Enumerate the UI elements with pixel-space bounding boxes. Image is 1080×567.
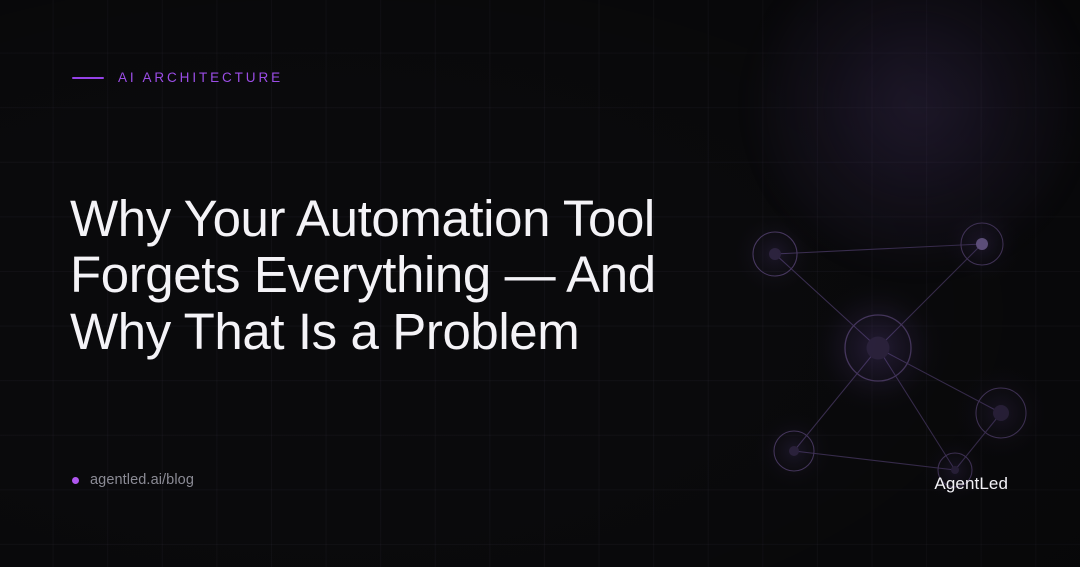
- network-edge: [878, 244, 982, 348]
- network-edge: [794, 348, 878, 451]
- node-dot: [867, 337, 890, 360]
- node-halo: [919, 434, 990, 505]
- node-ring: [753, 232, 797, 276]
- eyebrow-kicker: AI ARCHITECTURE: [72, 70, 283, 85]
- network-edge: [878, 348, 1001, 413]
- node-top-left: [729, 208, 821, 300]
- node-right: [949, 361, 1054, 466]
- bullet-dot-icon: [72, 477, 79, 484]
- blog-share-card: AI ARCHITECTURE Why Your Automation Tool…: [0, 0, 1080, 567]
- node-halo: [809, 279, 948, 418]
- network-nodes: [729, 200, 1054, 506]
- node-dot: [976, 238, 988, 250]
- node-halo: [938, 200, 1026, 288]
- node-top-right: [938, 200, 1026, 288]
- node-halo: [752, 409, 836, 493]
- node-behind-brand-text: [919, 434, 990, 505]
- footer-url-label: agentled.ai/blog: [90, 472, 194, 488]
- node-ring: [976, 388, 1026, 438]
- node-dot: [993, 405, 1009, 421]
- node-dot: [769, 248, 781, 260]
- node-halo: [949, 361, 1054, 466]
- node-ring: [774, 431, 814, 471]
- central-hub-node: [809, 279, 948, 418]
- horizontal-dash-icon: [72, 77, 104, 79]
- network-edges: [775, 244, 1001, 470]
- brand-wordmark: AgentLed: [934, 474, 1008, 494]
- network-edge: [794, 451, 955, 470]
- eyebrow-label: AI ARCHITECTURE: [118, 70, 283, 85]
- network-edge: [955, 413, 1001, 470]
- node-dot: [951, 466, 959, 474]
- network-edge: [775, 244, 982, 254]
- footer-url-link[interactable]: agentled.ai/blog: [72, 472, 194, 488]
- network-edge: [878, 348, 955, 470]
- node-dot: [789, 446, 799, 456]
- network-edge: [775, 254, 878, 348]
- node-ring: [845, 315, 911, 381]
- node-halo: [729, 208, 821, 300]
- node-bottom-left: [752, 409, 836, 493]
- node-ring: [961, 223, 1003, 265]
- page-title: Why Your Automation Tool Forgets Everyth…: [70, 191, 730, 360]
- purple-glow-orb: [757, 0, 1077, 265]
